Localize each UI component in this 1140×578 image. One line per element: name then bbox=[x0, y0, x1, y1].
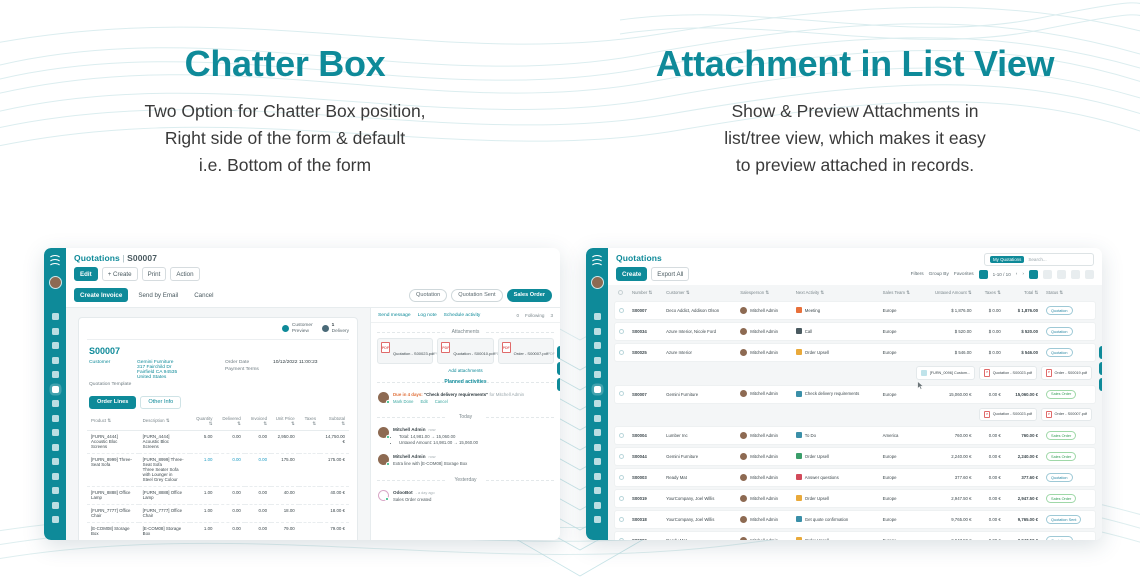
view-kanban-icon[interactable] bbox=[1043, 270, 1052, 279]
table-row[interactable]: S00004Lumber IncMitchell AdminTo DoAmeri… bbox=[614, 426, 1096, 445]
salesperson-name: Mitchell Admin bbox=[750, 391, 778, 396]
avatar bbox=[378, 454, 389, 465]
export-all-button[interactable]: Export All bbox=[651, 267, 689, 281]
breadcrumb-separator: | bbox=[122, 253, 124, 263]
cell-untaxed-amount: $ 520.00 bbox=[921, 322, 975, 341]
sidebar-item-project[interactable] bbox=[594, 458, 601, 465]
breadcrumb: Quotations bbox=[616, 253, 689, 263]
attachment-row: [FURN_0096] Custom...PQuotation - S00023… bbox=[614, 364, 1096, 383]
edit-button[interactable]: Edit bbox=[74, 267, 98, 281]
activity-name: Order Upsell bbox=[805, 496, 829, 501]
salesperson-name: Mitchell Admin bbox=[750, 454, 778, 459]
status-badge: Sales Order bbox=[1046, 431, 1076, 440]
attachment-count: 0 bbox=[516, 313, 519, 318]
left-shot-body: Quotations | S00007 Edit + Create Print … bbox=[66, 248, 560, 540]
activity-icon bbox=[796, 391, 802, 397]
table-cell: 1.00 bbox=[190, 504, 216, 522]
cell-total: $ 520.00 bbox=[1005, 322, 1042, 341]
row-checkbox[interactable] bbox=[614, 301, 628, 320]
attachment-item[interactable]: PDFOrder - S00007.pdfPDF bbox=[498, 338, 554, 364]
cell-next-activity: Get quote confirmation bbox=[792, 510, 879, 529]
sidebar-item-sales[interactable] bbox=[594, 386, 601, 393]
message-time: now bbox=[429, 455, 436, 459]
edit-activity-button[interactable]: Edit bbox=[420, 399, 427, 404]
breadcrumb-record: S00007 bbox=[127, 253, 157, 263]
group-by-button[interactable]: Group By bbox=[929, 272, 949, 277]
cell-untaxed-amount: 2,947.50 € bbox=[921, 531, 975, 540]
field-quotation-template-label: Quotation Template bbox=[89, 382, 131, 387]
attachments-list: PDFQuotation - S00023.pdfPDFPDFQuotation… bbox=[371, 338, 560, 364]
table-row[interactable]: S00034Azure Interior, Nicole FordMitchel… bbox=[614, 322, 1096, 341]
activity-item: Due in 4 days: "Check delivery requireme… bbox=[371, 388, 560, 408]
cell-sales-team: Europe bbox=[879, 385, 922, 404]
view-calendar-icon[interactable] bbox=[1057, 270, 1066, 279]
cell-taxes: $ 0.00 bbox=[976, 322, 1005, 341]
sidebar-item-apps[interactable] bbox=[594, 502, 601, 509]
attachment-name: Order - S00007.pdf bbox=[1054, 412, 1087, 416]
activity-assignee: for Mitchell Admin bbox=[489, 392, 524, 397]
smart-button-delivery[interactable]: 1 Delivery bbox=[322, 323, 349, 335]
attachment-name: Order - S00019.pdf bbox=[1054, 371, 1087, 375]
column-header[interactable]: Quantity ⇅ bbox=[190, 413, 216, 431]
row-checkbox[interactable] bbox=[614, 531, 628, 540]
message-line: Sales Order created bbox=[393, 497, 435, 503]
cell-next-activity: Check delivery requirements bbox=[792, 385, 879, 404]
attachment-name: Quotation - S00023.pdf bbox=[993, 371, 1032, 375]
sidebar-item-invoicing[interactable] bbox=[594, 400, 601, 407]
table-cell: 5.00 bbox=[190, 430, 216, 453]
table-row[interactable]: S00002Ready MatMitchell AdminOrder Upsel… bbox=[614, 531, 1096, 540]
column-header[interactable]: Product ⇅ bbox=[87, 413, 139, 431]
attachment-chip[interactable]: PQuotation - S00023.pdf bbox=[979, 408, 1037, 422]
cell-number: S00003 bbox=[628, 468, 662, 487]
cell-number: S00007 bbox=[628, 385, 662, 404]
cell-untaxed-amount: 2,240.00 € bbox=[921, 447, 975, 466]
sidebar-icon-list[interactable] bbox=[594, 313, 601, 523]
cell-next-activity: Meeting bbox=[792, 301, 879, 320]
cell-taxes: $ 0.00 bbox=[976, 343, 1005, 362]
tab-order-lines[interactable]: Order Lines bbox=[89, 396, 136, 409]
salesperson-name: Mitchell Admin bbox=[750, 517, 778, 522]
cell-untaxed-amount: 377.60 € bbox=[921, 468, 975, 487]
table-cell: [FURN_7777] Office Chair bbox=[139, 504, 191, 522]
attachment-item[interactable]: PDFQuotation - S00023.pdfPDF bbox=[377, 338, 433, 364]
table-cell: [FURN_8888] Office Lamp bbox=[139, 486, 191, 504]
salesperson-name: Mitchell Admin bbox=[750, 329, 778, 334]
status-badge bbox=[386, 400, 390, 404]
cell-salesperson: Mitchell Admin bbox=[736, 468, 792, 487]
screenshot-attachment-list-view: Quotations Create Export All My Quotatio… bbox=[586, 248, 1102, 540]
cell-number: S00019 bbox=[628, 489, 662, 508]
gear-icon[interactable]: ⚙ bbox=[1099, 346, 1102, 359]
field-payment-terms-label: Payment Terms bbox=[225, 367, 267, 372]
truck-icon bbox=[322, 325, 329, 332]
column-header[interactable]: Next Activity ⇅ bbox=[792, 287, 879, 299]
image-icon bbox=[921, 370, 927, 376]
sidebar-item-inventory[interactable] bbox=[52, 415, 59, 422]
cell-untaxed-amount: $ 546.00 bbox=[921, 343, 975, 362]
float-toolbar-left[interactable]: ★ ⌕ ▦ bbox=[557, 346, 560, 391]
cell-total: 15,060.00 € bbox=[1005, 385, 1042, 404]
table-row[interactable]: S00044Gemini FurnitureMitchell AdminOrde… bbox=[614, 447, 1096, 466]
message-body: Extra line with [E-COM08] Storage Box bbox=[393, 461, 467, 467]
chatter-message: Mitchell AdminnowTotal: 14,981.00 → 15,0… bbox=[371, 423, 560, 450]
sidebar-item-invoicing[interactable] bbox=[52, 400, 59, 407]
salesperson-name: Mitchell Admin bbox=[750, 496, 778, 501]
sidebar-item-inventory[interactable] bbox=[594, 415, 601, 422]
sidebar-item-calendar[interactable] bbox=[594, 342, 601, 349]
salesperson-name: Mitchell Admin bbox=[750, 433, 778, 438]
table-cell: 40.00 bbox=[271, 486, 299, 504]
field-customer: Customer Gemini Furniture 317 Fairchild … bbox=[89, 360, 211, 380]
sidebar-item-contacts[interactable] bbox=[594, 357, 601, 364]
print-button[interactable]: Print bbox=[142, 267, 167, 281]
pdf-icon: P bbox=[1046, 411, 1052, 419]
cell-salesperson: Mitchell Admin bbox=[736, 426, 792, 445]
table-cell: 40.00 € bbox=[320, 486, 349, 504]
headline-right: Attachment in List View Show & Preview A… bbox=[570, 44, 1140, 179]
smart-button-customer-preview-label: Customer Preview bbox=[292, 323, 313, 335]
activity-icon bbox=[796, 432, 802, 438]
message-body: Total: 14,981.00 → 15,060.00Untaxed Amou… bbox=[393, 434, 478, 447]
filters-button[interactable]: Filters bbox=[911, 272, 924, 277]
avatar bbox=[740, 453, 747, 460]
pdf-icon: PDF bbox=[441, 342, 450, 353]
search-placeholder: Search... bbox=[1028, 257, 1046, 262]
column-header[interactable]: Taxes ⇅ bbox=[299, 413, 320, 431]
headline-title-attachment-list-view: Attachment in List View bbox=[570, 44, 1140, 84]
column-header[interactable]: Unit Price ⇅ bbox=[271, 413, 299, 431]
attachment-chip[interactable]: [FURN_0096] Custom... bbox=[916, 366, 975, 380]
pdf-icon: PDF bbox=[502, 342, 511, 353]
salesperson-name: Mitchell Admin bbox=[750, 350, 778, 355]
table-row[interactable]: [E-COM08] Storage Box[E-COM08] Storage B… bbox=[87, 522, 349, 540]
following-button[interactable]: Following bbox=[525, 313, 544, 318]
smart-button-customer-preview[interactable]: Customer Preview bbox=[282, 323, 313, 335]
smart-button-delivery-label: 1 Delivery bbox=[332, 323, 349, 335]
view-list-icon[interactable] bbox=[1029, 270, 1038, 279]
avatar bbox=[740, 474, 747, 481]
schedule-activity-button[interactable]: Schedule activity bbox=[444, 313, 481, 318]
send-by-email-button[interactable]: Send by Email bbox=[132, 288, 184, 302]
mouse-cursor-icon bbox=[917, 381, 924, 390]
avatar bbox=[740, 328, 747, 335]
cell-taxes: 0.00 € bbox=[976, 385, 1005, 404]
sidebar-item-timesheets[interactable] bbox=[594, 473, 601, 480]
sidebar-item-timesheets[interactable] bbox=[52, 473, 59, 480]
sidebar-item-manufacturing[interactable] bbox=[594, 444, 601, 451]
cell-total: 9,765.00 € bbox=[1005, 510, 1042, 529]
row-checkbox[interactable] bbox=[614, 385, 628, 404]
create-invoice-button[interactable]: Create Invoice bbox=[74, 288, 128, 302]
cell-salesperson: Mitchell Admin bbox=[736, 385, 792, 404]
cell-salesperson: Mitchell Admin bbox=[736, 447, 792, 466]
status-pill-sales-order[interactable]: Sales Order bbox=[507, 289, 552, 302]
pager[interactable]: 1-10 / 10 bbox=[993, 272, 1011, 277]
field-quotation-template: Quotation Template bbox=[89, 382, 211, 387]
pdf-icon: P bbox=[984, 411, 990, 419]
table-cell bbox=[299, 453, 320, 486]
column-header[interactable]: Status ⇅ bbox=[1042, 287, 1096, 299]
view-pivot-icon[interactable] bbox=[1071, 270, 1080, 279]
status-badge: Sales Order bbox=[1046, 494, 1076, 503]
sidebar-item-crm[interactable] bbox=[594, 371, 601, 378]
cell-taxes: $ 0.00 bbox=[976, 301, 1005, 320]
cell-customer: Deco Addict, Addison Olson bbox=[662, 301, 736, 320]
attachment-name: [FURN_0096] Custom... bbox=[930, 371, 971, 375]
table-row[interactable]: S00007Deco Addict, Addison OlsonMitchell… bbox=[614, 301, 1096, 320]
form-fields: Customer Gemini Furniture 317 Fairchild … bbox=[79, 360, 357, 390]
attachment-chip[interactable]: PQuotation - S00023.pdf bbox=[979, 366, 1037, 380]
activity-name: To Do bbox=[805, 433, 816, 438]
table-cell: 1.00 bbox=[190, 522, 216, 540]
table-header-row: Number ⇅Customer ⇅Salesperson ⇅Next Acti… bbox=[614, 287, 1096, 299]
activity-icon bbox=[796, 328, 802, 334]
table-cell: 0.00 bbox=[245, 486, 271, 504]
cell-sales-team: Europe bbox=[879, 301, 922, 320]
sidebar-item-discuss[interactable] bbox=[52, 328, 59, 335]
search-icon[interactable]: ⌕ bbox=[557, 362, 560, 375]
sidebar-item-project[interactable] bbox=[52, 458, 59, 465]
table-cell: 0.00 bbox=[245, 430, 271, 453]
sidebar-item-inbox[interactable] bbox=[52, 313, 59, 320]
sidebar-item-settings[interactable] bbox=[52, 516, 59, 523]
status-pill-quotation[interactable]: Quotation bbox=[409, 289, 447, 302]
odoo-sidebar-right[interactable] bbox=[586, 248, 608, 540]
table-cell: 18.00 bbox=[271, 504, 299, 522]
table-row[interactable]: [FURN_4444] Acoustic Bloc Screens[FURN_4… bbox=[87, 430, 349, 453]
message-line: Extra line with [E-COM08] Storage Box bbox=[393, 461, 467, 467]
sidebar-item-apps[interactable] bbox=[52, 502, 59, 509]
table-cell: [FURN_8999] Three-Seat Sofa bbox=[87, 453, 139, 486]
message-author: Mitchell Adminnow bbox=[393, 427, 478, 432]
table-row[interactable]: S00018YourCompany, Joel WillisMitchell A… bbox=[614, 510, 1096, 529]
sidebar-item-discuss[interactable] bbox=[594, 328, 601, 335]
field-customer-label[interactable]: Customer bbox=[89, 360, 131, 380]
cell-untaxed-amount: 2,947.50 € bbox=[921, 489, 975, 508]
pager-next-icon[interactable]: › bbox=[1022, 272, 1024, 277]
status-badge bbox=[385, 497, 389, 501]
row-checkbox[interactable] bbox=[614, 343, 628, 362]
search-facet[interactable]: My Quotations bbox=[990, 256, 1024, 263]
messages-yesterday: OdooBot- a day agoSales Order created bbox=[371, 486, 560, 507]
sidebar-item-employees[interactable] bbox=[594, 487, 601, 494]
table-cell: 0.00 bbox=[216, 486, 244, 504]
cell-salesperson: Mitchell Admin bbox=[736, 301, 792, 320]
sidebar-item-inbox[interactable] bbox=[594, 313, 601, 320]
message-time: - a day ago bbox=[416, 491, 435, 495]
cell-status: Quotation Sent bbox=[1042, 510, 1096, 529]
pager-prev-icon[interactable]: ‹ bbox=[1016, 272, 1018, 277]
create-button[interactable]: + Create bbox=[102, 267, 138, 281]
cell-taxes: 0.00 € bbox=[976, 447, 1005, 466]
column-header[interactable]: Description ⇅ bbox=[139, 413, 191, 431]
create-button[interactable]: Create bbox=[616, 267, 647, 281]
table-cell: 18.00 € bbox=[320, 504, 349, 522]
add-attachments-button[interactable]: Add attachments bbox=[371, 368, 560, 373]
chatter-message: Mitchell AdminnowExtra line with [E-COM0… bbox=[371, 450, 560, 471]
row-checkbox[interactable] bbox=[614, 447, 628, 466]
cell-next-activity: Order Upsell bbox=[792, 531, 879, 540]
mark-done-button[interactable]: Mark Done bbox=[393, 399, 413, 404]
table-cell: 0.00 bbox=[216, 453, 244, 486]
row-checkbox[interactable] bbox=[614, 426, 628, 445]
cell-number: S00002 bbox=[628, 531, 662, 540]
search-input[interactable]: My Quotations Search... bbox=[984, 253, 1094, 266]
column-header[interactable]: Invoiced ⇅ bbox=[245, 413, 271, 431]
field-customer-value[interactable]: Gemini Furniture 317 Fairchild Dr Fairfi… bbox=[137, 360, 177, 380]
breadcrumb-model[interactable]: Quotations bbox=[74, 253, 120, 263]
table-row[interactable]: [FURN_7777] Office Chair[FURN_7777] Offi… bbox=[87, 504, 349, 522]
record-title: S00007 bbox=[79, 340, 357, 360]
cell-number: S00007 bbox=[628, 301, 662, 320]
column-header[interactable]: Sales Team ⇅ bbox=[879, 287, 922, 299]
star-icon[interactable]: ★ bbox=[557, 346, 560, 359]
table-row[interactable]: S00003Ready MatMitchell AdminAnswer ques… bbox=[614, 468, 1096, 487]
row-checkbox[interactable] bbox=[614, 510, 628, 529]
cell-sales-team: America bbox=[879, 426, 922, 445]
row-checkbox[interactable] bbox=[614, 489, 628, 508]
cell-salesperson: Mitchell Admin bbox=[736, 531, 792, 540]
grid-icon[interactable]: ▦ bbox=[557, 378, 560, 391]
status-badge bbox=[386, 435, 390, 439]
cell-sales-team: Europe bbox=[879, 468, 922, 487]
table-row[interactable]: S00007Gemini FurnitureMitchell AdminChec… bbox=[614, 385, 1096, 404]
send-message-button[interactable]: Send message bbox=[378, 313, 411, 318]
order-lines-table: Product ⇅Description ⇅Quantity ⇅Delivere… bbox=[87, 413, 349, 540]
sidebar-item-calendar[interactable] bbox=[52, 342, 59, 349]
cell-total: $ 546.00 bbox=[1005, 343, 1042, 362]
sidebar-item-contacts[interactable] bbox=[52, 357, 59, 364]
activity-icon bbox=[796, 307, 802, 313]
grid-icon[interactable]: ▦ bbox=[1099, 378, 1102, 391]
status-pill-quotation-sent[interactable]: Quotation Sent bbox=[451, 289, 502, 302]
action-button[interactable]: Action bbox=[170, 267, 199, 281]
cell-untaxed-amount: $ 1,876.00 bbox=[921, 301, 975, 320]
column-header[interactable]: Salesperson ⇅ bbox=[736, 287, 792, 299]
attachment-chip[interactable]: POrder - S00019.pdf bbox=[1041, 366, 1092, 380]
column-header[interactable]: Taxes ⇅ bbox=[976, 287, 1005, 299]
activity-icon bbox=[796, 516, 802, 522]
table-cell bbox=[299, 430, 320, 453]
cell-taxes: 0.00 € bbox=[976, 426, 1005, 445]
activity-name: Answer questions bbox=[805, 475, 839, 480]
column-header[interactable]: Delivered ⇅ bbox=[216, 413, 244, 431]
attachment-chip[interactable]: POrder - S00007.pdf bbox=[1041, 408, 1092, 422]
cell-untaxed-amount: 760.00 € bbox=[921, 426, 975, 445]
activity-name: Call bbox=[805, 329, 812, 334]
activity-due: Due in 4 days: bbox=[393, 392, 423, 397]
view-graph-icon[interactable] bbox=[1085, 270, 1094, 279]
salesperson-name: Mitchell Admin bbox=[750, 475, 778, 480]
search-icon[interactable]: ⌕ bbox=[1099, 362, 1102, 375]
sidebar-item-crm[interactable] bbox=[52, 371, 59, 378]
avatar bbox=[378, 490, 389, 501]
cell-customer: YourCompany, Joel Willis bbox=[662, 510, 736, 529]
avatar[interactable] bbox=[49, 276, 62, 289]
table-cell: 175.00 € bbox=[320, 453, 349, 486]
attachment-item[interactable]: PDFQuotation - S00010.pdfPDF bbox=[437, 338, 493, 364]
select-all-checkbox[interactable] bbox=[614, 287, 628, 299]
column-header[interactable]: Subtotal ⇅ bbox=[320, 413, 349, 431]
sidebar-item-settings[interactable] bbox=[594, 516, 601, 523]
float-toolbar-right[interactable]: ⚙ ⌕ ▦ bbox=[1099, 346, 1102, 391]
cell-status: Sales Order bbox=[1042, 447, 1096, 466]
table-row[interactable]: S00025Azure InteriorMitchell AdminOrder … bbox=[614, 343, 1096, 362]
table-cell: 0.00 bbox=[245, 522, 271, 540]
field-order-date-value[interactable]: 10/12/2022 11:00:23 bbox=[273, 360, 318, 365]
cell-total: 2,947.50 € bbox=[1005, 489, 1042, 508]
sidebar-icon-list[interactable] bbox=[52, 313, 59, 523]
status-badge: Quotation Sent bbox=[1046, 515, 1081, 524]
cancel-button[interactable]: Cancel bbox=[188, 288, 219, 302]
planned-activities-title: Planned activities bbox=[371, 379, 560, 385]
table-row[interactable]: [FURN_8999] Three-Seat Sofa[FURN_8999] T… bbox=[87, 453, 349, 486]
cell-status: Quotation bbox=[1042, 343, 1096, 362]
sidebar-item-employees[interactable] bbox=[52, 487, 59, 494]
avatar[interactable] bbox=[591, 276, 604, 289]
table-cell: [FURN_8999] Three-Seat Sofa Three Seater… bbox=[139, 453, 191, 486]
row-checkbox[interactable] bbox=[614, 322, 628, 341]
cell-status: Quotation bbox=[1042, 468, 1096, 487]
table-cell: [FURN_7777] Office Chair bbox=[87, 504, 139, 522]
table-row[interactable]: [FURN_8888] Office Lamp[FURN_8888] Offic… bbox=[87, 486, 349, 504]
chatter-actions: Send message Log note Schedule activity bbox=[378, 313, 480, 318]
cell-salesperson: Mitchell Admin bbox=[736, 489, 792, 508]
column-header[interactable]: Customer ⇅ bbox=[662, 287, 736, 299]
favorites-button[interactable]: Favorites bbox=[954, 272, 974, 277]
attachment-type: PDF bbox=[548, 352, 555, 356]
attachment-name: Quotation - S00023.pdf bbox=[993, 412, 1032, 416]
headline-title-chatter-box: Chatter Box bbox=[0, 44, 570, 84]
odoo-sidebar-left[interactable] bbox=[44, 248, 66, 540]
column-header[interactable]: Number ⇅ bbox=[628, 287, 662, 299]
attachment-chip-list: PQuotation - S00023.pdfPOrder - S00007.p… bbox=[618, 408, 1092, 422]
row-checkbox[interactable] bbox=[614, 468, 628, 487]
avatar bbox=[740, 390, 747, 397]
column-header[interactable]: Untaxed Amount ⇅ bbox=[921, 287, 975, 299]
tab-other-info[interactable]: Other Info bbox=[140, 396, 181, 409]
sidebar-item-manufacturing[interactable] bbox=[52, 444, 59, 451]
sidebar-item-purchase[interactable] bbox=[52, 429, 59, 436]
cell-customer: Ready Mat bbox=[662, 531, 736, 540]
table-cell: 1.00 bbox=[190, 486, 216, 504]
cell-customer: YourCompany, Joel Willis bbox=[662, 489, 736, 508]
workflow-buttons: Create Invoice Send by Email Cancel bbox=[74, 288, 219, 302]
column-header[interactable]: Total ⇅ bbox=[1005, 287, 1042, 299]
table-row[interactable]: S00019YourCompany, Joel WillisMitchell A… bbox=[614, 489, 1096, 508]
sidebar-item-sales[interactable] bbox=[52, 386, 59, 393]
cell-number: S00034 bbox=[628, 322, 662, 341]
followers-count[interactable]: 3 bbox=[550, 313, 553, 318]
cancel-activity-button[interactable]: Cancel bbox=[435, 399, 448, 404]
attachment-toggle-icon[interactable] bbox=[979, 270, 988, 279]
breadcrumb-model[interactable]: Quotations bbox=[616, 253, 662, 263]
pdf-icon: PDF bbox=[381, 342, 390, 353]
activity-name: Order Upsell bbox=[805, 454, 829, 459]
cell-total: 2,240.00 € bbox=[1005, 447, 1042, 466]
sidebar-item-purchase[interactable] bbox=[594, 429, 601, 436]
log-note-button[interactable]: Log note bbox=[418, 313, 437, 318]
cell-next-activity: Order Upsell bbox=[792, 343, 879, 362]
cell-status: Sales Order bbox=[1042, 426, 1096, 445]
cell-taxes: 0.00 € bbox=[976, 468, 1005, 487]
chatter-message: OdooBot- a day agoSales Order created bbox=[371, 486, 560, 507]
cell-customer: Lumber Inc bbox=[662, 426, 736, 445]
salesperson-name: Mitchell Admin bbox=[750, 308, 778, 313]
cell-sales-team: Europe bbox=[879, 531, 922, 540]
cell-total: 377.60 € bbox=[1005, 468, 1042, 487]
